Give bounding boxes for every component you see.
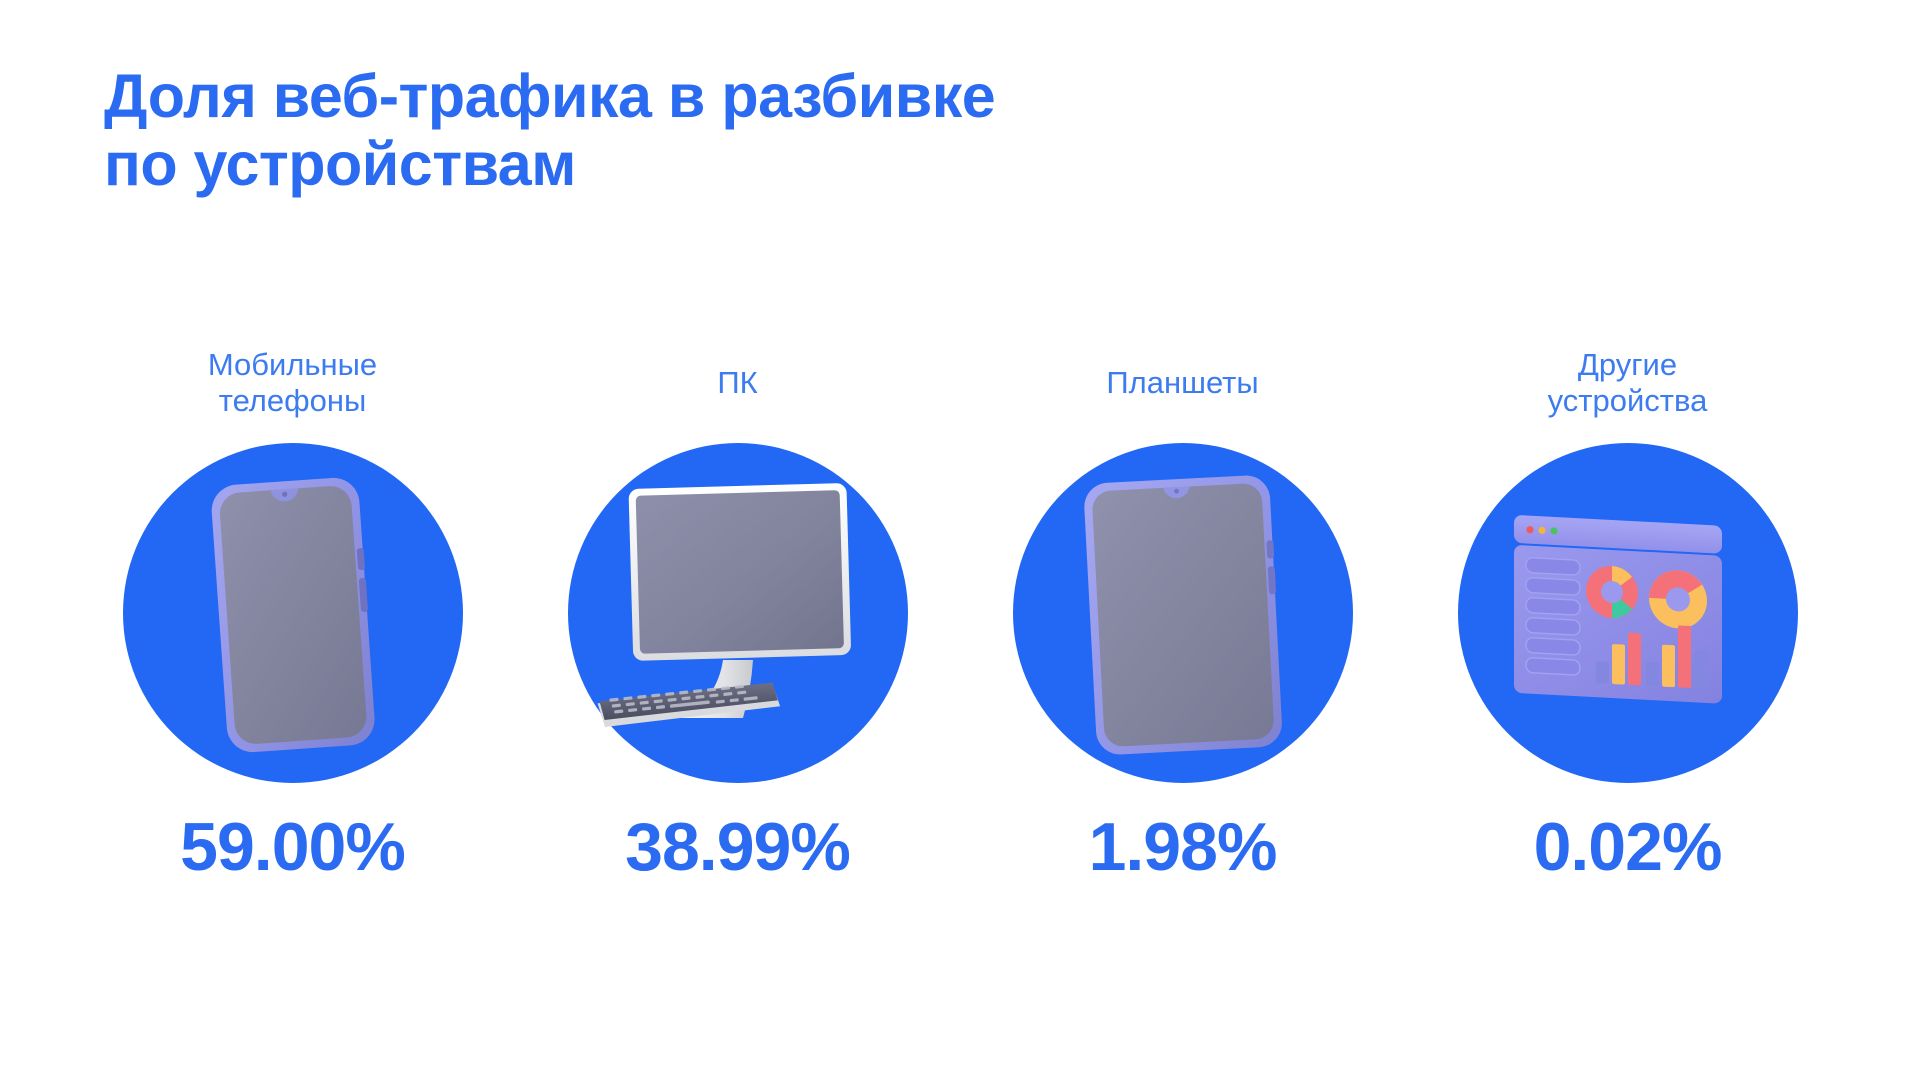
page-title: Доля веб-трафика в разбивке по устройств…: [104, 62, 995, 199]
device-card-mobile: Мобильные телефоны: [70, 345, 515, 881]
device-value-other: 0.02%: [1534, 813, 1722, 881]
icon-disc-pc: [568, 443, 908, 783]
device-value-pc: 38.99%: [625, 813, 850, 881]
icon-disc-other: [1458, 443, 1798, 783]
device-card-pc: ПК: [515, 345, 960, 881]
device-label-mobile: Мобильные телефоны: [208, 345, 377, 421]
device-card-other: Другие устройства: [1405, 345, 1850, 881]
device-label-other: Другие устройства: [1548, 345, 1708, 421]
tablet-icon: [1058, 463, 1308, 763]
device-label-pc: ПК: [717, 345, 757, 421]
smartphone-icon: [183, 463, 403, 763]
device-card-tablet: Планшеты: [960, 345, 1405, 881]
device-value-mobile: 59.00%: [180, 813, 405, 881]
device-label-tablet: Планшеты: [1106, 345, 1258, 421]
dashboard-analytics-icon: [1498, 498, 1758, 728]
icon-disc-mobile: [123, 443, 463, 783]
desktop-monitor-icon: [573, 468, 903, 758]
device-cards-row: Мобильные телефоны: [0, 345, 1920, 881]
device-value-tablet: 1.98%: [1089, 813, 1277, 881]
icon-disc-tablet: [1013, 443, 1353, 783]
